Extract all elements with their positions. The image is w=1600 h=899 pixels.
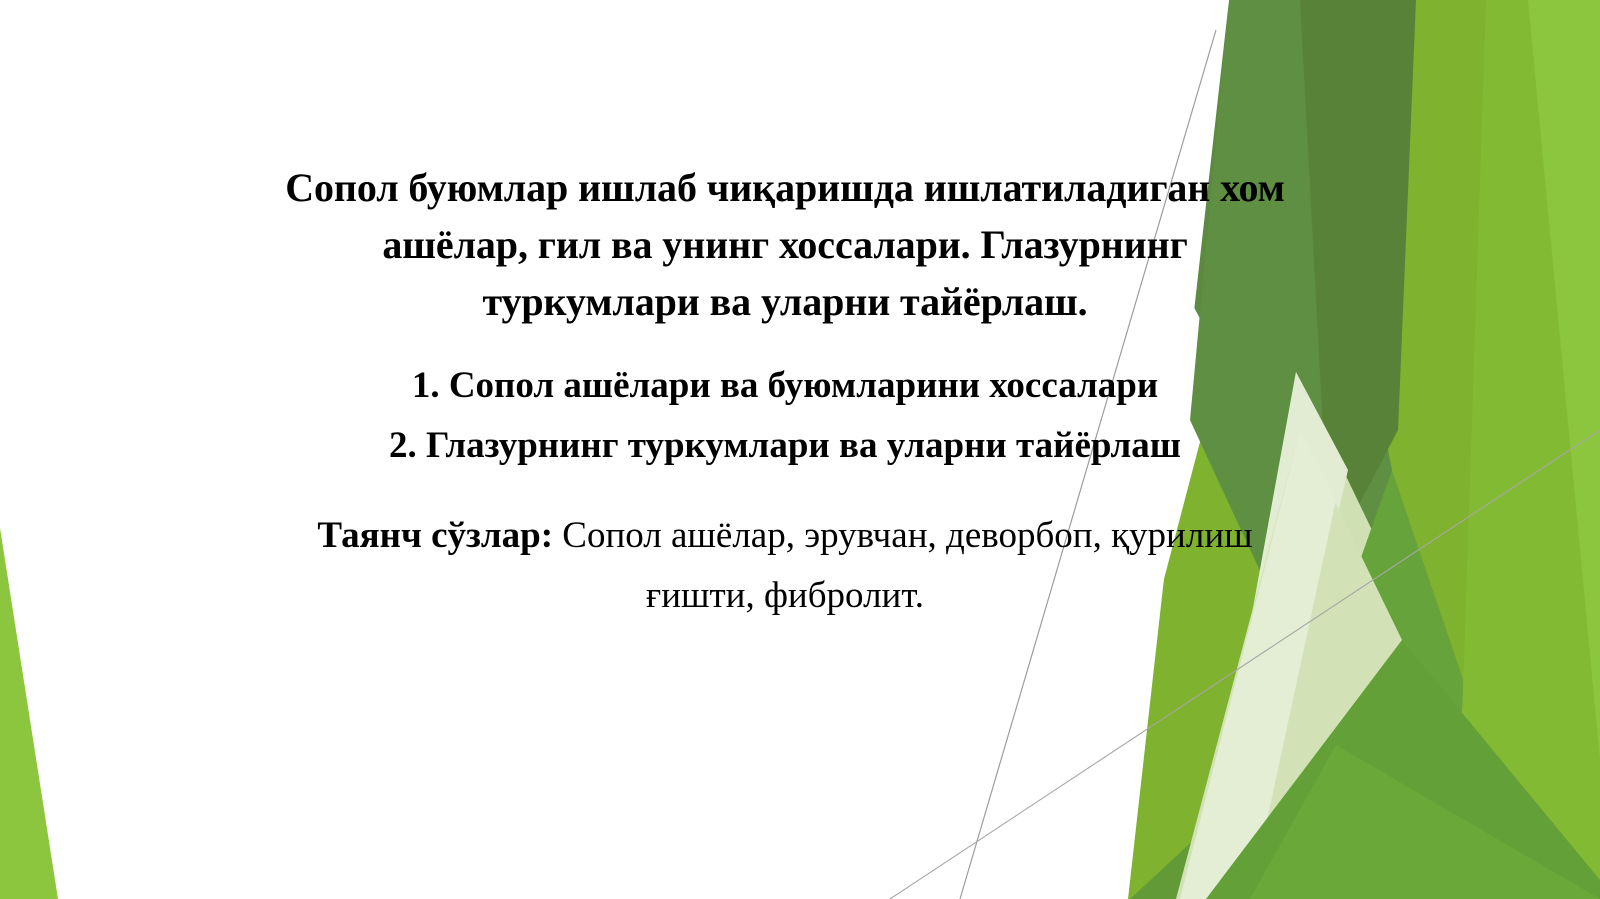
shape-lower-green-triangle-2 — [1250, 745, 1600, 899]
slide-title: Сопол буюмлар ишлаб чиқаришда ишлатилади… — [270, 160, 1300, 330]
slide-canvas: Сопол буюмлар ишлаб чиқаришда ишлатилади… — [0, 0, 1600, 899]
shape-far-right-overlay — [1456, 0, 1600, 899]
outline-item-1: 1. Сопол ашёлари ва буюмларини хоссалари — [270, 356, 1300, 416]
slide-content: Сопол буюмлар ишлаб чиқаришда ишлатилади… — [270, 160, 1300, 626]
keywords-label: Таянч сўзлар: — [317, 515, 553, 556]
shape-far-right-column — [1450, 0, 1600, 899]
shape-lower-mid-green — [1130, 630, 1600, 899]
shape-lower-green-triangle — [1206, 640, 1600, 899]
keywords-value: Сопол ашёлар, эрувчан, деворбоп, қурилиш… — [562, 515, 1252, 616]
outline-item-2: 2. Глазурнинг туркумлари ва уларни тайёр… — [270, 416, 1300, 476]
outline-list: 1. Сопол ашёлари ва буюмларини хоссалари… — [270, 356, 1300, 476]
shape-left-green-wedge-inner — [0, 560, 40, 899]
shape-left-green-wedge — [0, 528, 58, 899]
shape-lower-bright-sliver — [1420, 700, 1600, 899]
shape-right-dark-facet — [1300, 0, 1416, 560]
keywords-block: Таянч сўзлар: Сопол ашёлар, эрувчан, дев… — [270, 506, 1300, 626]
